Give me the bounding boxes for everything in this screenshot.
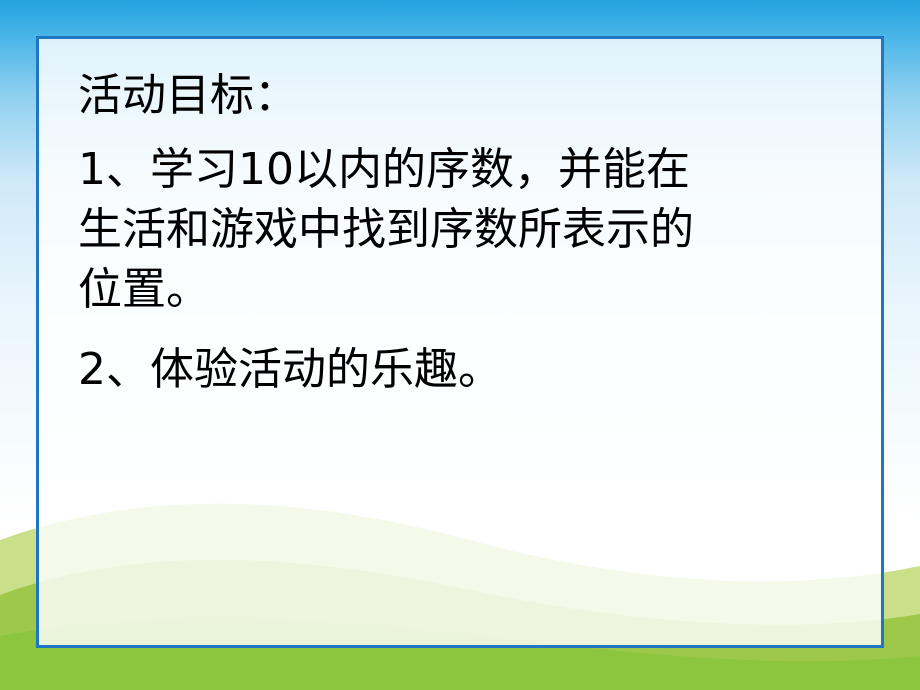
slide-content: 活动目标： 1、学习10以内的序数，并能在 生活和游戏中找到序数所表示的 位置。… [36, 36, 884, 648]
objective-line-3: 位置。 [78, 268, 842, 312]
slide-title: 活动目标： [78, 74, 842, 118]
objective-line-2: 生活和游戏中找到序数所表示的 [78, 208, 842, 252]
objective-line-4: 2、体验活动的乐趣。 [78, 348, 842, 392]
slide: 活动目标： 1、学习10以内的序数，并能在 生活和游戏中找到序数所表示的 位置。… [0, 0, 920, 690]
objective-line-1: 1、学习10以内的序数，并能在 [78, 148, 842, 192]
